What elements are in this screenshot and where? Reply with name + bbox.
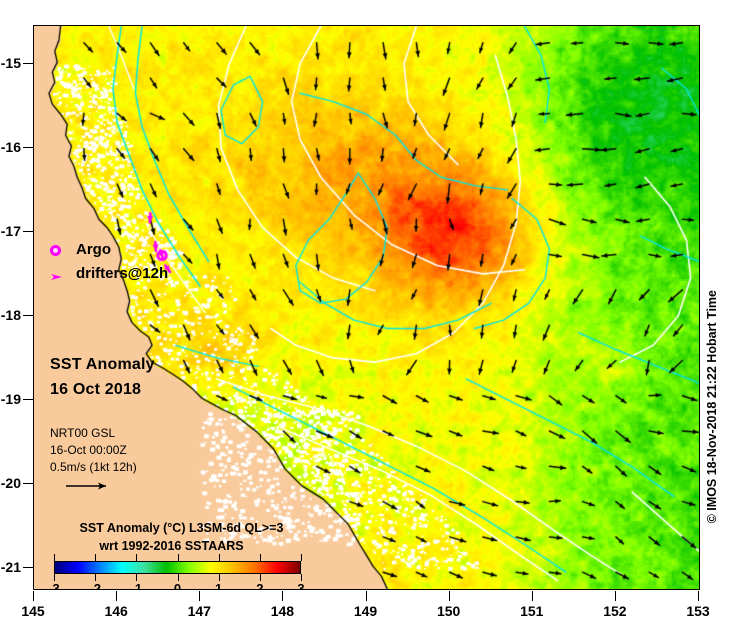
x-tick [698, 591, 699, 601]
colorbar-tick-label: 3 [297, 581, 304, 590]
colorbar-tick [178, 574, 179, 581]
y-tick-label: -21 [1, 559, 21, 575]
colorbar-tick-label: 1 [215, 581, 222, 590]
y-tick [23, 483, 33, 484]
map-plot-area[interactable]: Argo drifters@12h SST Anomaly 16 Oct 201… [33, 25, 700, 590]
colorbar-tick [54, 574, 55, 581]
x-tick-label: 146 [104, 603, 127, 619]
y-tick [23, 63, 33, 64]
colorbar-tick-label: -1 [131, 581, 143, 590]
colorbar-tick [260, 554, 261, 561]
argo-marker-icon [50, 245, 61, 256]
x-tick-label: 150 [437, 603, 460, 619]
figure-root: Argo drifters@12h SST Anomaly 16 Oct 201… [0, 0, 741, 634]
y-axis: -15-16-17-18-19-20-21 [0, 25, 33, 591]
x-tick-label: 145 [21, 603, 44, 619]
colorbar-tick [219, 554, 220, 561]
colorbar-tick [136, 574, 137, 581]
y-tick [23, 567, 33, 568]
colorbar-title-line1: SST Anomaly (°C) L3SM-6d QL>=3 [44, 521, 319, 535]
x-tick-label: 149 [354, 603, 377, 619]
colorbar-tick [95, 554, 96, 561]
x-tick-label: 147 [188, 603, 211, 619]
y-tick [23, 315, 33, 316]
legend-item-argo: Argo [44, 241, 224, 263]
x-tick [116, 591, 117, 601]
x-tick [33, 591, 34, 601]
legend-label-drifters: drifters@12h [76, 265, 168, 282]
y-tick-label: -18 [1, 307, 21, 323]
meta-timestamp: 16-Oct 00:00Z [50, 443, 127, 457]
colorbar-tick-label: -3 [48, 581, 60, 590]
meta-vector-scale: 0.5m/s (1kt 12h) [50, 460, 137, 474]
colorbar-block: SST Anomaly (°C) L3SM-6d QL>=3 wrt 1992-… [44, 521, 334, 590]
map-date: 16 Oct 2018 [50, 381, 141, 399]
map-title: SST Anomaly [50, 356, 155, 374]
y-tick [23, 399, 33, 400]
legend-item-drifters: drifters@12h [44, 265, 234, 287]
colorbar-gradient [54, 561, 301, 574]
vector-scale-arrow-icon [64, 478, 124, 494]
x-tick [199, 591, 200, 601]
colorbar-tick-label: 0 [174, 581, 181, 590]
colorbar-title-line2: wrt 1992-2016 SSTAARS [44, 539, 299, 553]
x-tick-label: 152 [603, 603, 626, 619]
colorbar-tick [301, 574, 302, 581]
colorbar-tick [260, 574, 261, 581]
x-tick-label: 153 [686, 603, 709, 619]
x-tick [532, 591, 533, 601]
x-tick [282, 591, 283, 601]
legend-label-argo: Argo [76, 241, 111, 258]
colorbar-tick [136, 554, 137, 561]
x-axis: 145146147148149150151152153 [33, 591, 701, 631]
colorbar-tick-label: 2 [256, 581, 263, 590]
y-tick-label: -19 [1, 391, 21, 407]
y-tick-label: -15 [1, 55, 21, 71]
map-overlay-layer [34, 26, 699, 589]
colorbar-tick [301, 554, 302, 561]
y-tick [23, 231, 33, 232]
x-tick-label: 148 [271, 603, 294, 619]
x-tick [615, 591, 616, 601]
x-tick [449, 591, 450, 601]
y-tick-label: -16 [1, 139, 21, 155]
colorbar-tick [54, 554, 55, 561]
copyright-credit: © IMOS 18-Nov-2018 21:22 Hobart Time [705, 290, 719, 523]
colorbar-tick [178, 554, 179, 561]
colorbar-tick [95, 574, 96, 581]
meta-product: NRT00 GSL [50, 426, 115, 440]
drifter-arrow-icon [46, 267, 70, 287]
colorbar-tick-label: -2 [89, 581, 101, 590]
x-tick [366, 591, 367, 601]
y-tick [23, 147, 33, 148]
y-tick-label: -17 [1, 223, 21, 239]
x-tick-label: 151 [520, 603, 543, 619]
colorbar-tick [219, 574, 220, 581]
y-tick-label: -20 [1, 475, 21, 491]
